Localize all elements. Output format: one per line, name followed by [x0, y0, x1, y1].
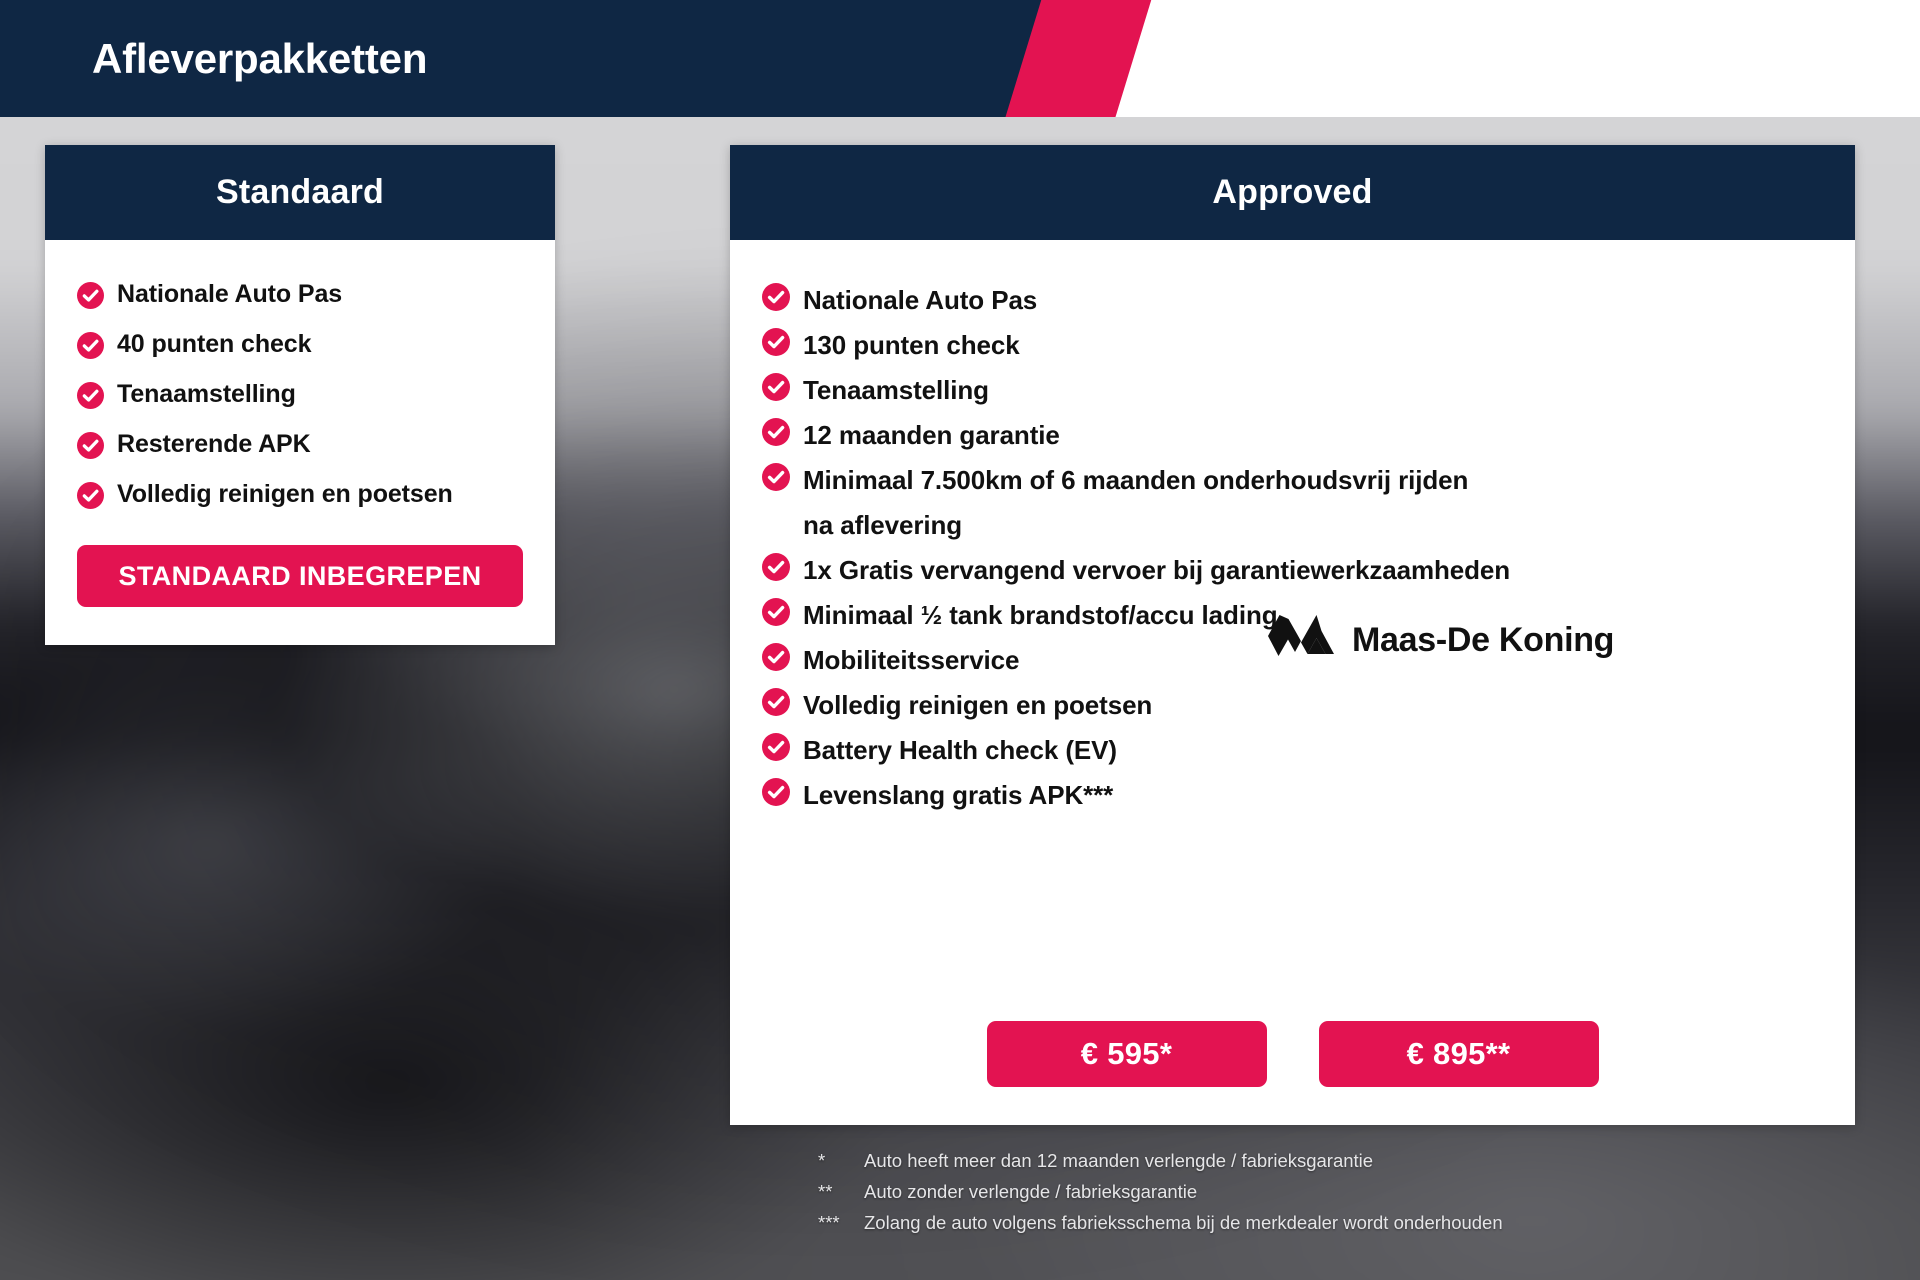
footnote-text: Auto heeft meer dan 12 maanden verlengde…: [864, 1145, 1503, 1176]
card-header-approved: Approved: [730, 145, 1855, 240]
feature-item: Levenslang gratis APK***: [762, 773, 1855, 818]
feature-item: Resterende APK: [77, 428, 555, 460]
footnote-text: Auto zonder verlengde / fabrieksgarantie: [864, 1176, 1503, 1207]
feature-item: Battery Health check (EV): [762, 728, 1855, 773]
feature-label: Minimaal ½ tank brandstof/accu lading: [803, 593, 1278, 638]
check-circle-icon: [762, 733, 790, 761]
footnote-row: ** Auto zonder verlengde / fabrieksgaran…: [818, 1176, 1503, 1207]
feature-item: 40 punten check: [77, 328, 555, 360]
check-circle-icon: [762, 373, 790, 401]
feature-item: 1x Gratis vervangend vervoer bij garanti…: [762, 548, 1855, 593]
feature-label: Mobiliteitsservice: [803, 638, 1019, 683]
footnote-marker: ***: [818, 1207, 864, 1238]
brand-name: Maas-De Koning: [1352, 621, 1614, 660]
check-circle-icon: [762, 643, 790, 671]
check-circle-icon: [762, 778, 790, 806]
feature-label: 12 maanden garantie: [803, 413, 1060, 458]
check-circle-icon: [77, 432, 104, 459]
card-title-approved: Approved: [1212, 173, 1372, 212]
feature-list-standaard: Nationale Auto Pas 40 punten check Tenaa…: [77, 278, 555, 510]
check-circle-icon: [762, 463, 790, 491]
package-card-standaard: Standaard Nationale Auto Pas 40 punten c…: [45, 145, 555, 645]
feature-label: Levenslang gratis APK***: [803, 773, 1113, 818]
header-white-diagonal-panel: [1109, 0, 1920, 117]
feature-label: Volledig reinigen en poetsen: [803, 683, 1152, 728]
footnote-marker: *: [818, 1145, 864, 1176]
page-header: Afleverpakketten: [0, 0, 1920, 117]
feature-item: Volledig reinigen en poetsen: [77, 478, 555, 510]
standaard-included-button[interactable]: STANDAARD INBEGREPEN: [77, 545, 523, 607]
footnote-marker: **: [818, 1176, 864, 1207]
price-button-595[interactable]: € 595*: [987, 1021, 1267, 1087]
feature-label: Nationale Auto Pas: [117, 278, 342, 310]
poster-canvas: Afleverpakketten Maas-De Koning Standaar…: [0, 0, 1920, 1280]
feature-item: Tenaamstelling: [77, 378, 555, 410]
feature-label: Resterende APK: [117, 428, 311, 460]
check-circle-icon: [77, 382, 104, 409]
feature-label: Volledig reinigen en poetsen: [117, 478, 453, 510]
footnote-row: *** Zolang de auto volgens fabrieksschem…: [818, 1207, 1503, 1238]
feature-label: Tenaamstelling: [803, 368, 989, 413]
feature-label: Tenaamstelling: [117, 378, 296, 410]
card-header-standaard: Standaard: [45, 145, 555, 240]
feature-label: Minimaal 7.500km of 6 maanden onderhouds…: [803, 458, 1503, 548]
feature-item: Volledig reinigen en poetsen: [762, 683, 1855, 728]
maas-de-koning-m-logo-icon: [1268, 614, 1334, 666]
feature-item: Nationale Auto Pas: [762, 278, 1855, 323]
check-circle-icon: [762, 598, 790, 626]
check-circle-icon: [762, 328, 790, 356]
check-circle-icon: [77, 332, 104, 359]
feature-label: Battery Health check (EV): [803, 728, 1117, 773]
footnote-text: Zolang de auto volgens fabrieksschema bi…: [864, 1207, 1503, 1238]
price-button-row: € 595* € 895**: [730, 1021, 1855, 1087]
check-circle-icon: [77, 282, 104, 309]
feature-label: Nationale Auto Pas: [803, 278, 1037, 323]
price-button-895[interactable]: € 895**: [1319, 1021, 1599, 1087]
page-title: Afleverpakketten: [92, 35, 427, 83]
feature-label: 40 punten check: [117, 328, 311, 360]
check-circle-icon: [762, 553, 790, 581]
feature-label: 1x Gratis vervangend vervoer bij garanti…: [803, 548, 1510, 593]
feature-item: Minimaal 7.500km of 6 maanden onderhouds…: [762, 458, 1855, 548]
feature-item: Nationale Auto Pas: [77, 278, 555, 310]
check-circle-icon: [77, 482, 104, 509]
feature-item: 130 punten check: [762, 323, 1855, 368]
card-title-standaard: Standaard: [216, 173, 384, 212]
check-circle-icon: [762, 418, 790, 446]
check-circle-icon: [762, 283, 790, 311]
footnotes-block: * Auto heeft meer dan 12 maanden verleng…: [818, 1145, 1503, 1238]
feature-label: 130 punten check: [803, 323, 1020, 368]
feature-item: 12 maanden garantie: [762, 413, 1855, 458]
footnote-row: * Auto heeft meer dan 12 maanden verleng…: [818, 1145, 1503, 1176]
check-circle-icon: [762, 688, 790, 716]
feature-item: Tenaamstelling: [762, 368, 1855, 413]
feature-list-approved: Nationale Auto Pas 130 punten check Tena…: [762, 278, 1855, 818]
brand-logo: Maas-De Koning: [1268, 614, 1614, 666]
